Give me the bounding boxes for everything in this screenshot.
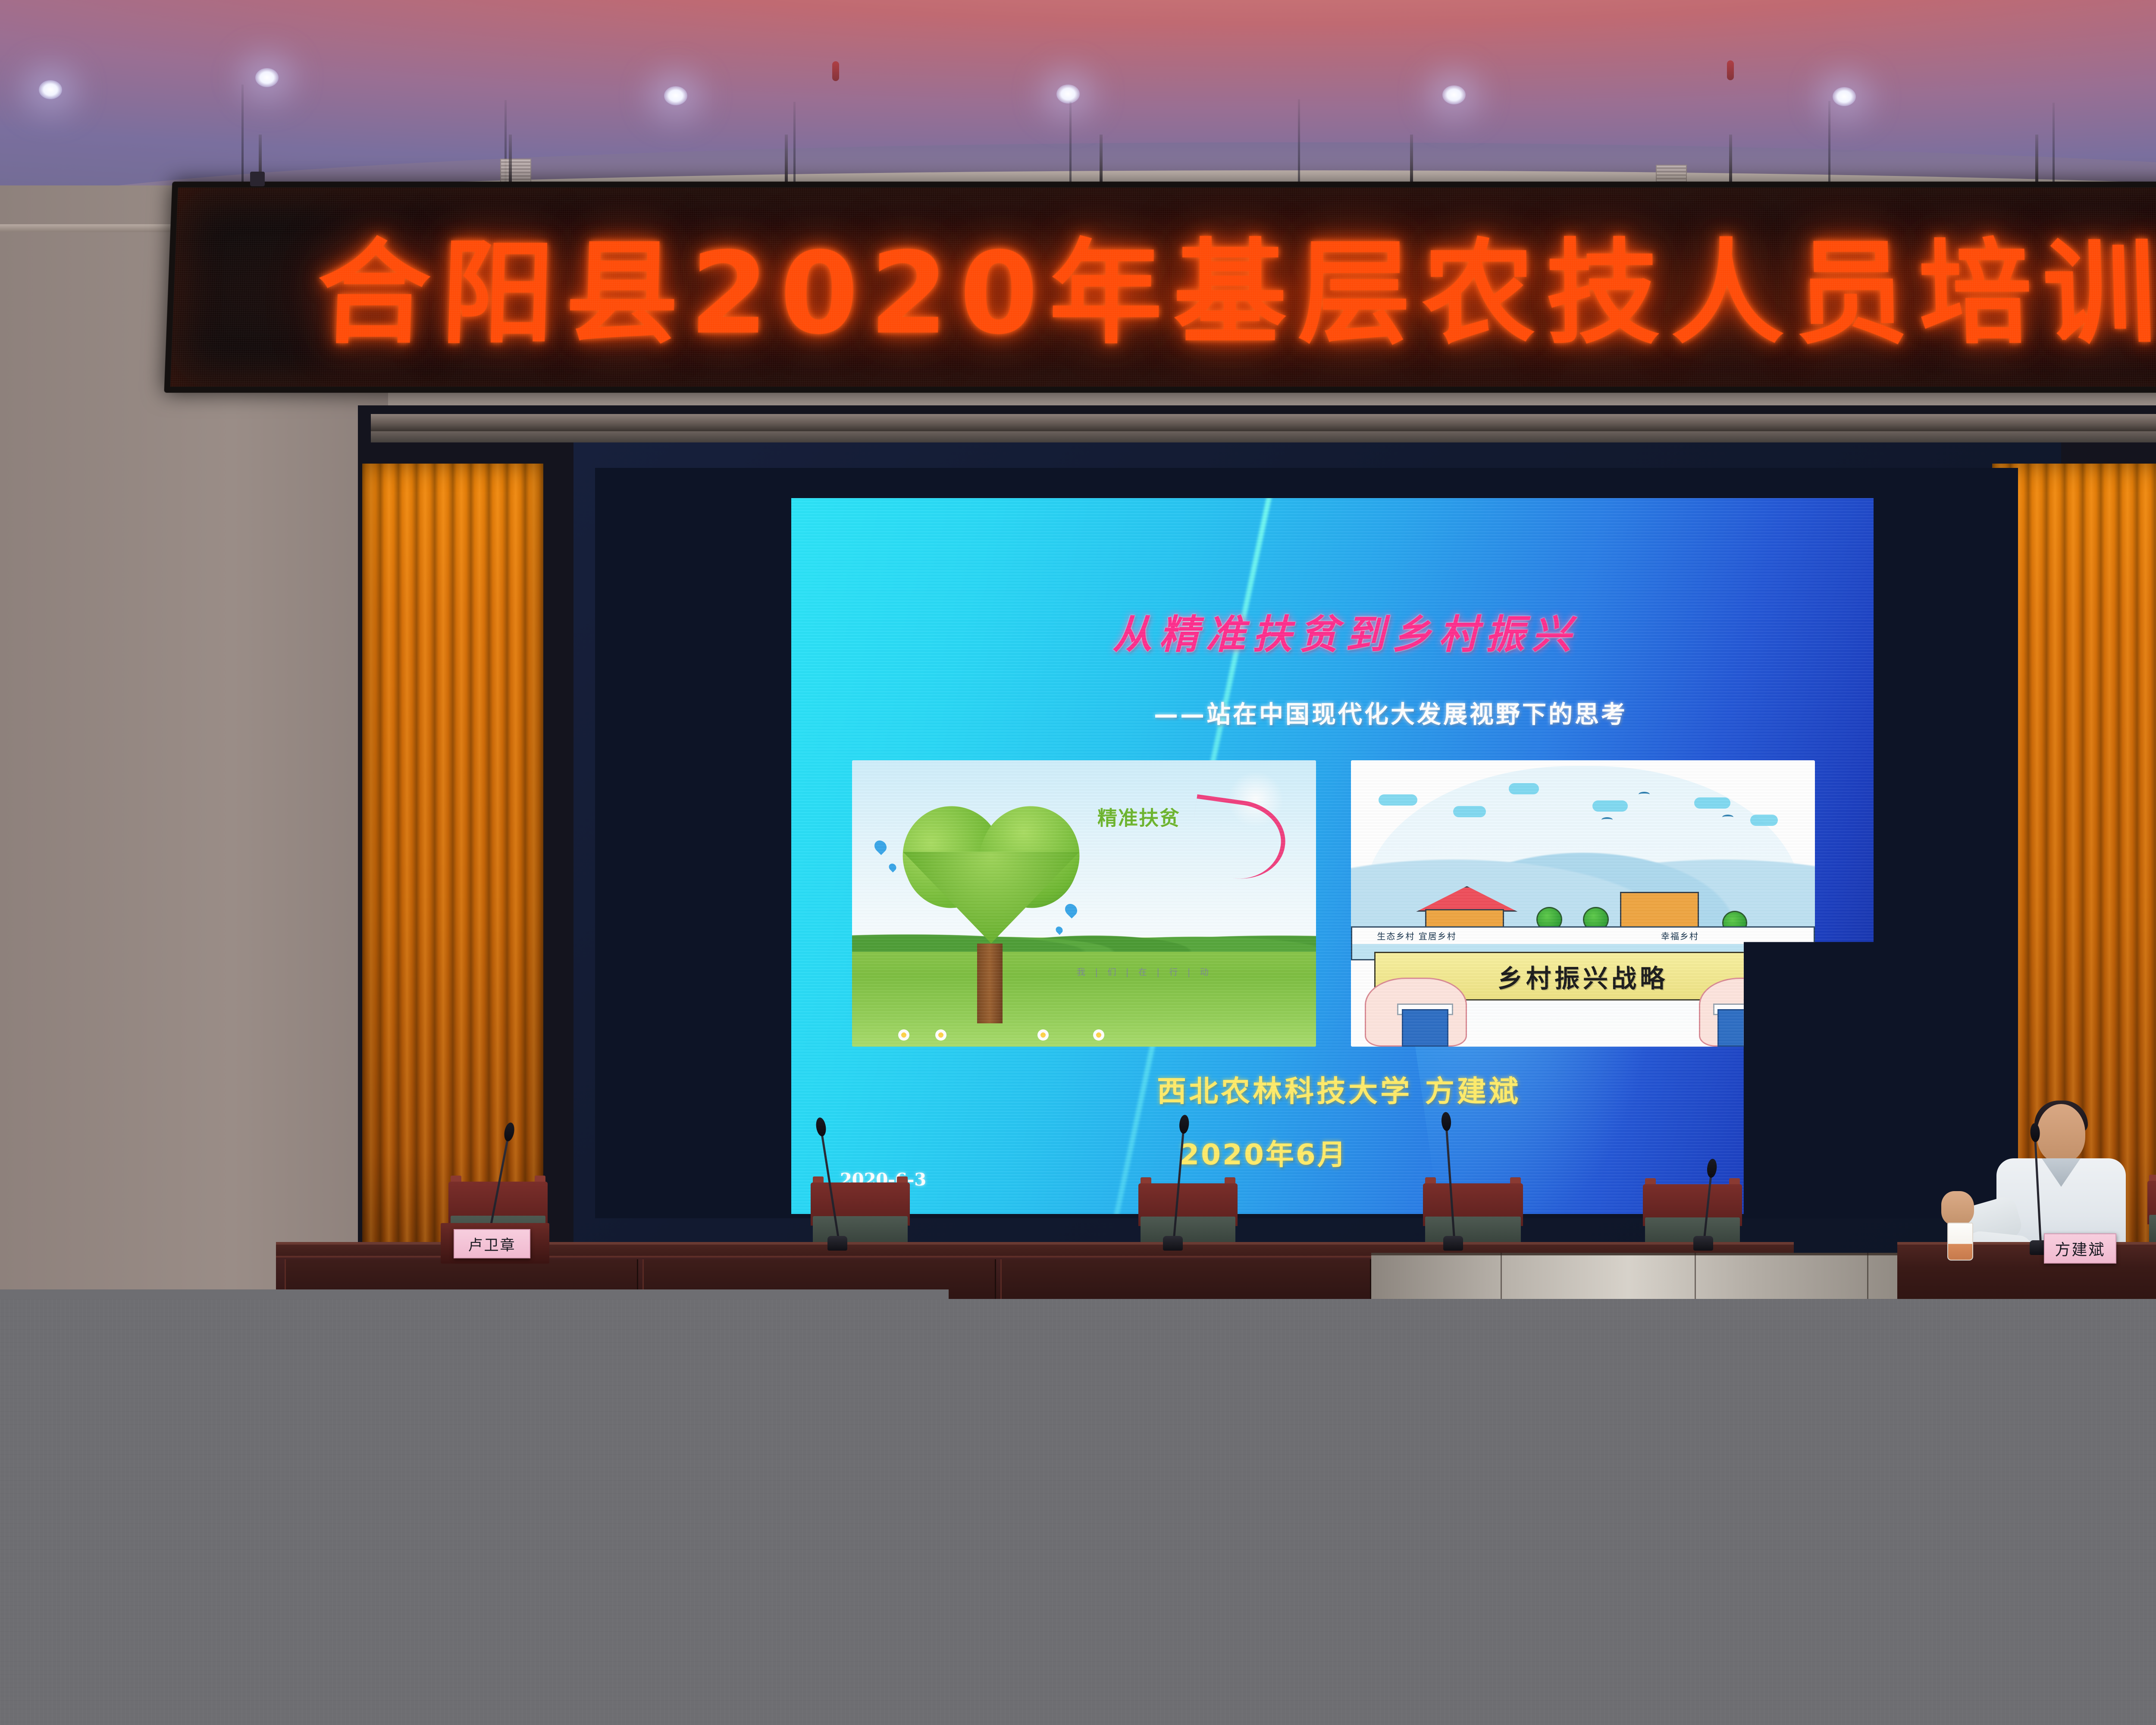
podium-front	[1371, 1253, 1984, 1299]
led-hanger	[785, 135, 788, 186]
suit-sleeve-right	[1717, 1009, 1764, 1046]
head-table-panel	[1000, 1259, 1371, 1299]
ceiling-downlight	[1833, 87, 1856, 106]
led-banner-text: 合阳县2020年基层农技人员培训班	[171, 202, 2156, 366]
cloud-icon	[1379, 794, 1417, 806]
led-hanger	[2035, 135, 2038, 186]
microphone	[1690, 1164, 1716, 1251]
microphone	[1440, 1116, 1466, 1251]
mountain-range-icon	[1351, 812, 1815, 932]
village-wall-text-right: 幸福乡村	[1574, 929, 1786, 942]
mic-base	[1693, 1236, 1713, 1251]
ceiling-downlight	[39, 80, 62, 99]
bird-icon	[1601, 817, 1613, 822]
strategy-banner-text: 乡村振兴战略	[1498, 958, 1668, 994]
cloud-icon	[1592, 800, 1628, 812]
stage-header-beam	[371, 414, 2156, 431]
cloud-icon	[1694, 797, 1730, 809]
letterbox-step	[0, 1289, 949, 1300]
screenshot-root: 合阳县2020年基层农技人员培训班 从精准扶贫到乡村振兴 ——站在中国现代化大发…	[0, 0, 2156, 1725]
village-revitalization-poster: 生态乡村 宜居乡村 幸福乡村 乡村振兴战略	[1351, 760, 1815, 1047]
microphone	[824, 1121, 850, 1251]
ceiling-downlight	[1056, 85, 1080, 103]
poster-headline: 精准扶贫	[1097, 808, 1241, 828]
cloud-icon	[1509, 783, 1539, 794]
mic-gooseneck	[1173, 1126, 1185, 1239]
ceiling-sprinkler	[1727, 60, 1734, 80]
cloud-icon	[1453, 806, 1486, 817]
podium-seam	[1695, 1253, 1696, 1299]
name-placard-chair[interactable]: 卢卫章	[454, 1229, 530, 1258]
led-mount-bracket	[250, 172, 265, 186]
mic-gooseneck	[2034, 1134, 2042, 1243]
led-hanger	[1729, 135, 1732, 186]
letterbox-bottom-band	[0, 1299, 2156, 1725]
led-hanger	[509, 135, 512, 186]
name-placard-speaker[interactable]: 方建斌	[2044, 1233, 2116, 1264]
mic-base	[827, 1236, 847, 1251]
ceiling-downlight	[1442, 85, 1466, 104]
poster-tagline: 我 | 们 | 在 | 行 | 动	[1000, 965, 1288, 978]
tree-trunk	[977, 944, 1003, 1024]
poster-grass	[852, 938, 1316, 1046]
paper-cup[interactable]	[1947, 1223, 1973, 1261]
slide-author: 西北农林科技大学 方建斌	[791, 1067, 1874, 1110]
microphone	[1160, 1120, 1186, 1251]
poster-logo-block: 精准扶贫	[1093, 800, 1297, 926]
mic-gooseneck	[1703, 1170, 1713, 1239]
bird-icon	[1722, 815, 1733, 820]
stage-curtain-left	[362, 464, 543, 1274]
mic-base	[1443, 1236, 1463, 1251]
ceiling-downlight	[255, 68, 279, 87]
mic-base	[1163, 1236, 1183, 1251]
podium-seam	[1501, 1253, 1502, 1299]
bird-icon	[1639, 792, 1650, 797]
cloud-icon	[1750, 815, 1778, 826]
suit-sleeve-left	[1402, 1009, 1448, 1046]
speaker-hand-right	[1941, 1191, 1974, 1226]
projected-slide: 从精准扶贫到乡村振兴 ——站在中国现代化大发展视野下的思考	[791, 498, 1874, 1214]
led-display-board: 合阳县2020年基层农技人员培训班	[164, 182, 2156, 393]
slide-subtitle: ——站在中国现代化大发展视野下的思考	[791, 695, 1874, 730]
stage-header-beam-shadow	[371, 431, 2156, 442]
ceiling-downlight	[664, 86, 687, 105]
conference-hall-photo: 合阳县2020年基层农技人员培训班 从精准扶贫到乡村振兴 ——站在中国现代化大发…	[0, 0, 2156, 1299]
led-hanger	[1410, 135, 1413, 186]
led-hanger	[1100, 135, 1103, 186]
poverty-alleviation-poster: 精准扶贫 我 | 们 | 在 | 行 | 动	[852, 760, 1316, 1047]
slide-title: 从精准扶贫到乡村振兴	[791, 602, 1874, 660]
led-banner: 合阳县2020年基层农技人员培训班	[168, 181, 2156, 392]
village-wall-text-left: 生态乡村 宜居乡村	[1351, 929, 1555, 942]
name-placard-speaker-text: 方建斌	[2055, 1237, 2105, 1260]
mic-gooseneck	[1445, 1123, 1455, 1239]
name-placard-chair-text: 卢卫章	[468, 1233, 516, 1255]
slide-image-row: 精准扶贫 我 | 们 | 在 | 行 | 动	[852, 760, 1815, 1047]
projection-screen-frame: 从精准扶贫到乡村振兴 ——站在中国现代化大发展视野下的思考	[595, 468, 2018, 1218]
ceiling-sprinkler	[832, 61, 839, 81]
podium-seam	[1867, 1253, 1868, 1299]
